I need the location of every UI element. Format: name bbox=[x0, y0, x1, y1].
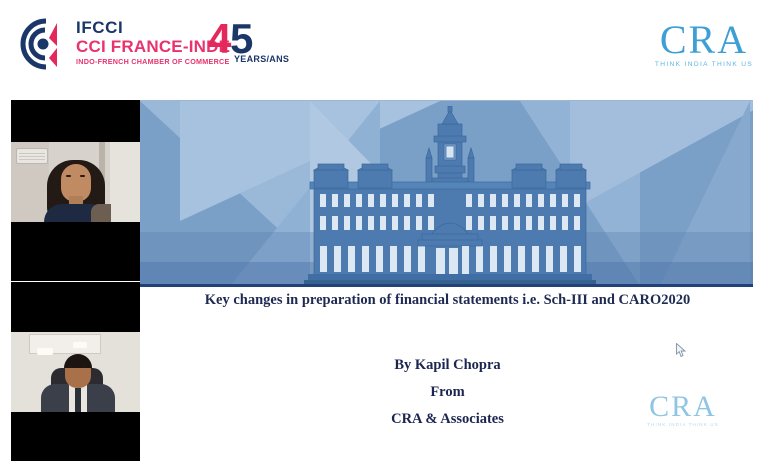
cam2-ceiling-light-1 bbox=[37, 348, 53, 355]
cam1-wall-right bbox=[110, 142, 140, 222]
shared-presentation-slide[interactable]: Key changes in preparation of financial … bbox=[140, 100, 760, 456]
cam1-shoulder-scarf bbox=[91, 204, 111, 222]
webcam-feed-woman bbox=[11, 142, 140, 222]
cam2-eye-left bbox=[69, 366, 74, 368]
cra-wordmark: CRA bbox=[650, 20, 758, 60]
heritage-building-illustration-icon bbox=[290, 106, 610, 284]
slide-title: Key changes in preparation of financial … bbox=[160, 290, 735, 311]
slide-cra-watermark: CRA THINK INDIA THINK US bbox=[628, 392, 738, 440]
cam2-ceiling-light-2 bbox=[73, 342, 87, 348]
header-bar: IFCCI CCI FRANCE-INDE INDO-FRENCH CHAMBE… bbox=[0, 0, 768, 95]
cam1-eye-right bbox=[80, 175, 85, 177]
cam1-air-conditioner bbox=[16, 148, 48, 164]
participant-video-2[interactable] bbox=[11, 282, 140, 461]
webcam-feed-man bbox=[11, 332, 140, 412]
cra-tagline: THINK INDIA THINK US bbox=[650, 61, 758, 68]
mouse-pointer-icon bbox=[676, 343, 687, 358]
ifcci-circular-c-mark-icon bbox=[16, 18, 70, 70]
anniversary-45-logo: 4 5 YEARS/ANS bbox=[208, 18, 288, 70]
slide-presenter: By Kapil Chopra bbox=[160, 352, 735, 379]
meeting-stage: Key changes in preparation of financial … bbox=[0, 95, 768, 461]
participant-video-column bbox=[11, 100, 140, 461]
anniversary-digit-four: 4 bbox=[208, 18, 231, 60]
participant-video-1[interactable] bbox=[11, 100, 140, 281]
watermark-wordmark: CRA bbox=[628, 392, 738, 422]
slide-banner-image bbox=[140, 100, 753, 287]
anniversary-years-label: YEARS/ANS bbox=[234, 54, 289, 64]
watermark-tagline: THINK INDIA THINK US bbox=[628, 422, 738, 427]
cra-logo-header: CRA THINK INDIA THINK US bbox=[650, 20, 758, 76]
cam2-necktie bbox=[75, 388, 81, 412]
cam1-eye-left bbox=[66, 175, 71, 177]
cam2-eye-right bbox=[82, 366, 87, 368]
